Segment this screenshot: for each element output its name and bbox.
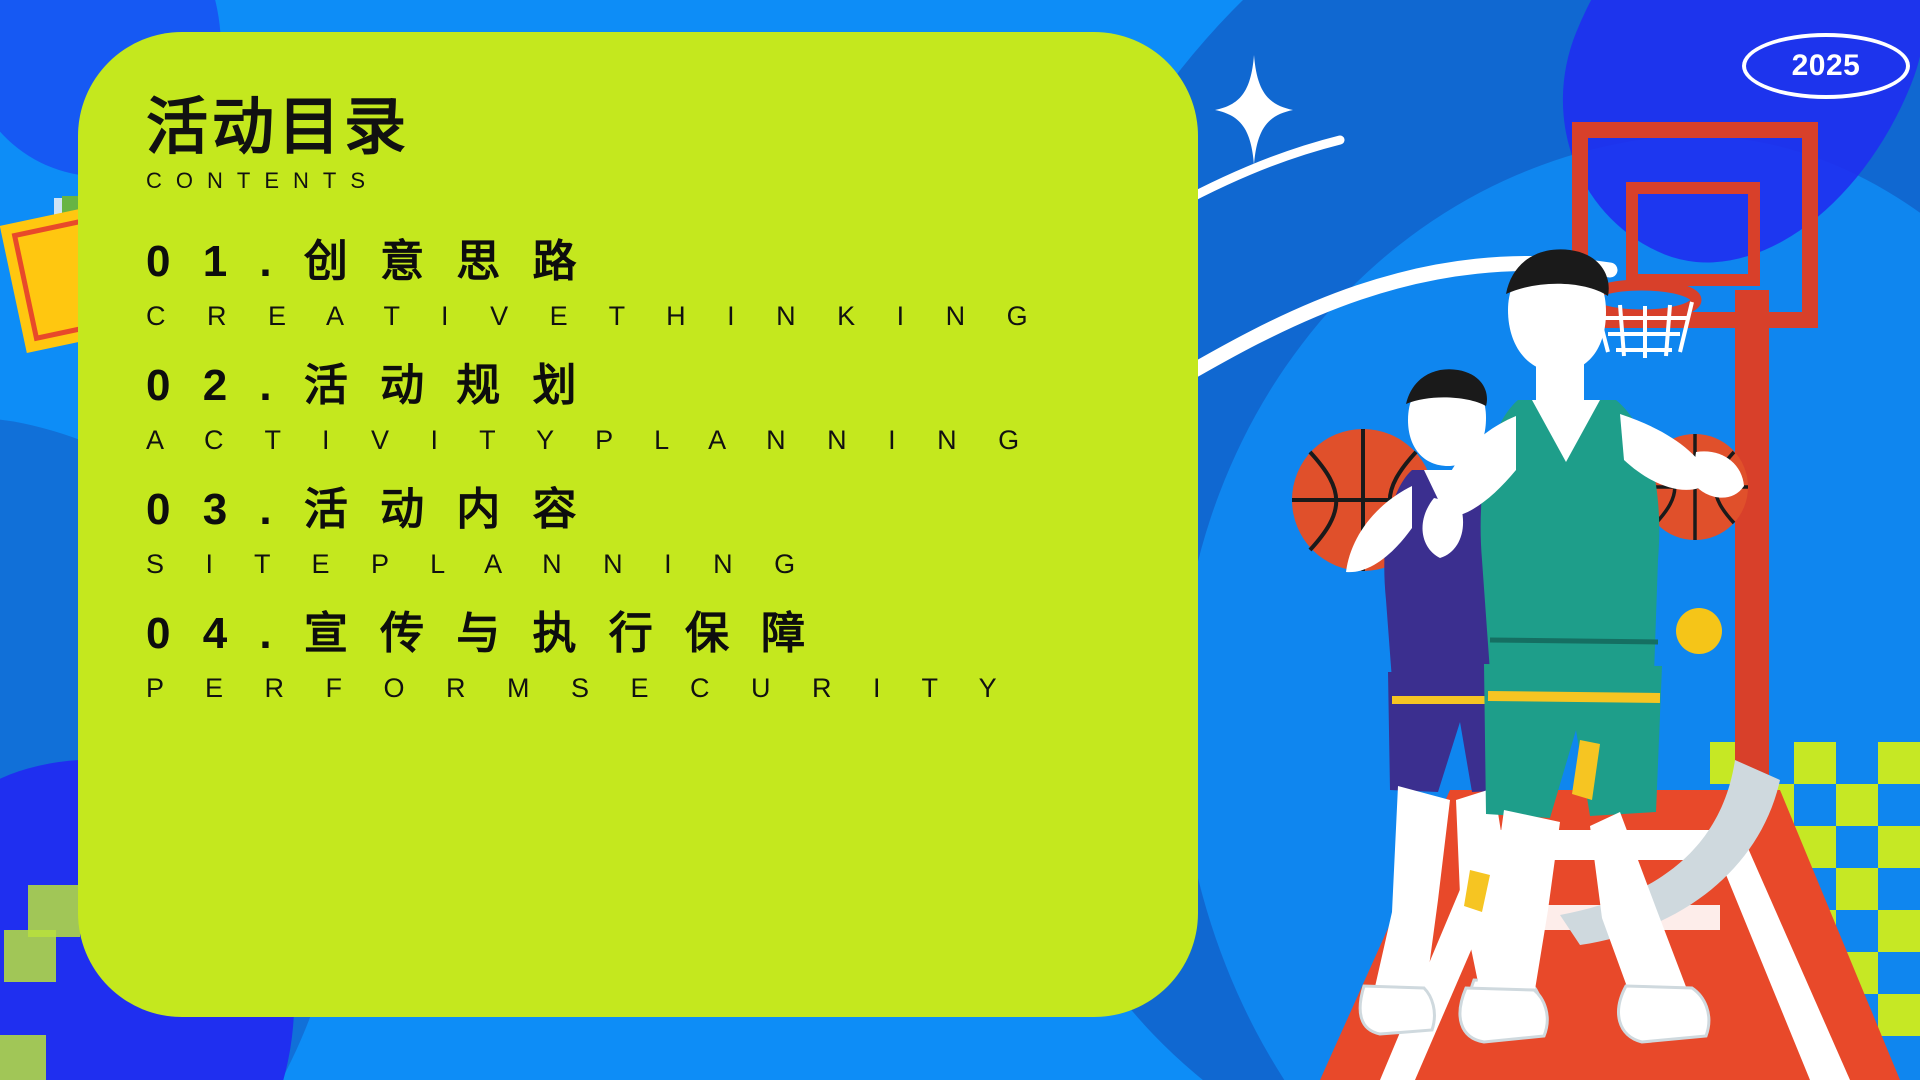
list-item[interactable]: 0 1 . 创 意 思 路 C R E A T I V E T H I N K …: [146, 234, 1198, 332]
slide-canvas: 2025: [0, 0, 1920, 1080]
page-subtitle: CONTENTS: [146, 168, 1198, 194]
contents-item-main: 0 2 . 活 动 规 划: [146, 358, 1198, 413]
contents-item-main: 0 3 . 活 动 内 容: [146, 482, 1198, 537]
year-badge-label: 2025: [1792, 49, 1861, 83]
contents-list: 0 1 . 创 意 思 路 C R E A T I V E T H I N K …: [146, 234, 1198, 704]
list-item[interactable]: 0 4 . 宣 传 与 执 行 保 障 P E R F O R M S E C …: [146, 606, 1198, 704]
deco-square-3: [0, 1035, 46, 1080]
contents-item-sub: P E R F O R M S E C U R I T Y: [146, 673, 1198, 704]
contents-item-sub: S I T E P L A N N I N G: [146, 549, 1198, 580]
page-title: 活动目录: [146, 94, 1198, 162]
contents-item-main: 0 1 . 创 意 思 路: [146, 234, 1198, 289]
contents-item-main: 0 4 . 宣 传 与 执 行 保 障: [146, 606, 1198, 661]
deco-square-2: [4, 930, 56, 982]
list-item[interactable]: 0 2 . 活 动 规 划 A C T I V I T Y P L A N N …: [146, 358, 1198, 456]
year-badge: 2025: [1742, 33, 1910, 99]
contents-item-sub: C R E A T I V E T H I N K I N G: [146, 301, 1198, 332]
contents-card: 活动目录 CONTENTS 0 1 . 创 意 思 路 C R E A T I …: [78, 32, 1198, 1017]
list-item[interactable]: 0 3 . 活 动 内 容 S I T E P L A N N I N G: [146, 482, 1198, 580]
contents-item-sub: A C T I V I T Y P L A N N I N G: [146, 425, 1198, 456]
